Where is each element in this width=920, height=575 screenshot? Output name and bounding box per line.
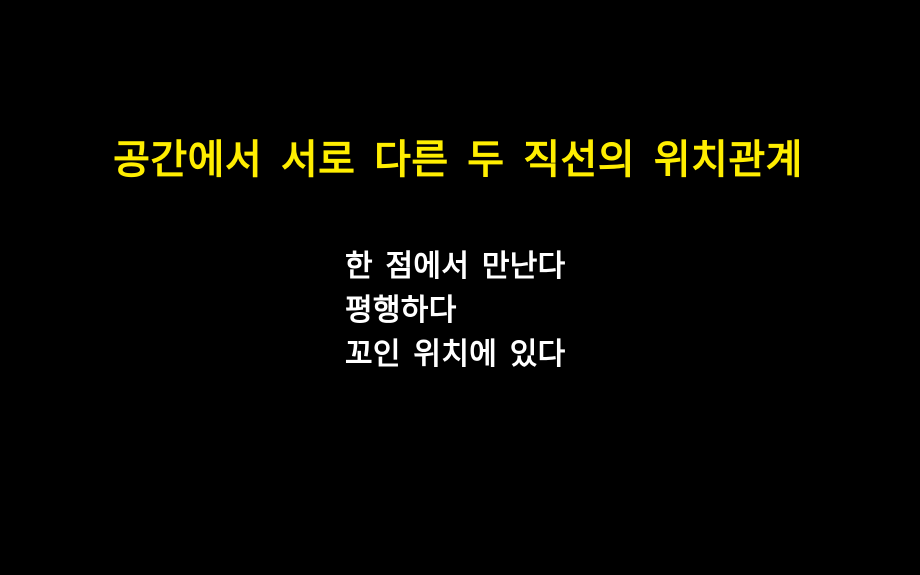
body-list-item-1: 한 점에서 만난다 [345,245,865,289]
slide-title: 공간에서 서로 다른 두 직선의 위치관계 [0,137,920,183]
body-list-item-3: 꼬인 위치에 있다 [345,333,865,377]
slide-body-list: 한 점에서 만난다 평행하다 꼬인 위치에 있다 [345,245,865,377]
presentation-slide: 공간에서 서로 다른 두 직선의 위치관계 한 점에서 만난다 평행하다 꼬인 … [0,0,920,575]
body-list-item-2: 평행하다 [345,289,865,333]
